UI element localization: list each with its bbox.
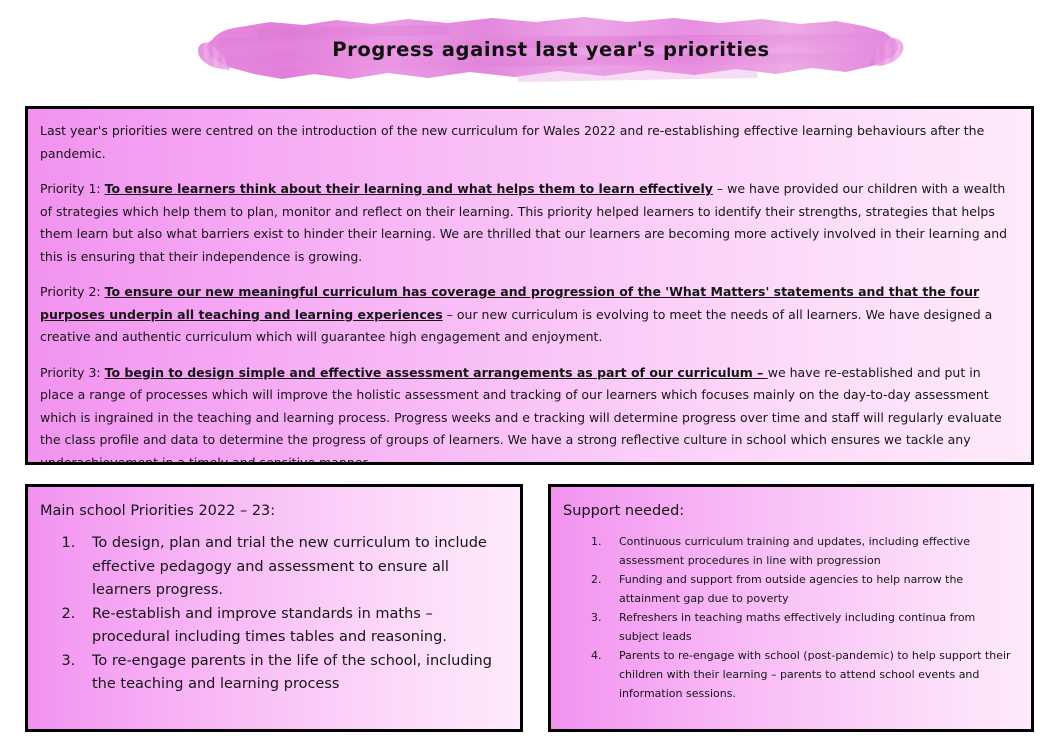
title-banner: Progress against last year's priorities xyxy=(0,0,1059,98)
list-item: Continuous curriculum training and updat… xyxy=(605,532,1017,570)
list-item: To re-engage parents in the life of the … xyxy=(80,650,506,697)
priority-3-label: Priority 3: xyxy=(40,365,105,380)
support-list: Continuous curriculum training and updat… xyxy=(563,532,1017,703)
priority-1-paragraph: Priority 1: To ensure learners think abo… xyxy=(40,178,1017,268)
priority-3-title: To begin to design simple and effective … xyxy=(105,365,768,380)
list-item: Re-establish and improve standards in ma… xyxy=(80,603,506,650)
list-item: Parents to re-engage with school (post-p… xyxy=(605,646,1017,703)
support-heading: Support needed: xyxy=(563,500,1017,522)
priorities-heading: Main school Priorities 2022 – 23: xyxy=(40,500,506,522)
priority-1-label: Priority 1: xyxy=(40,181,105,196)
priority-2-paragraph: Priority 2: To ensure our new meaningful… xyxy=(40,281,1017,349)
list-item: To design, plan and trial the new curric… xyxy=(80,532,506,603)
priority-2-label: Priority 2: xyxy=(40,284,105,299)
intro-paragraph: Last year's priorities were centred on t… xyxy=(40,120,1017,165)
priority-1-title: To ensure learners think about their lea… xyxy=(105,181,713,196)
priority-3-paragraph: Priority 3: To begin to design simple an… xyxy=(40,362,1017,466)
list-item: Funding and support from outside agencie… xyxy=(605,570,1017,608)
list-item: Refreshers in teaching maths effectively… xyxy=(605,608,1017,646)
support-needed-panel: Support needed: Continuous curriculum tr… xyxy=(548,484,1034,732)
last-year-priorities-panel: Last year's priorities were centred on t… xyxy=(25,106,1034,465)
priorities-list: To design, plan and trial the new curric… xyxy=(40,532,506,697)
page-title: Progress against last year's priorities xyxy=(196,10,906,88)
main-school-priorities-panel: Main school Priorities 2022 – 23: To des… xyxy=(25,484,523,732)
